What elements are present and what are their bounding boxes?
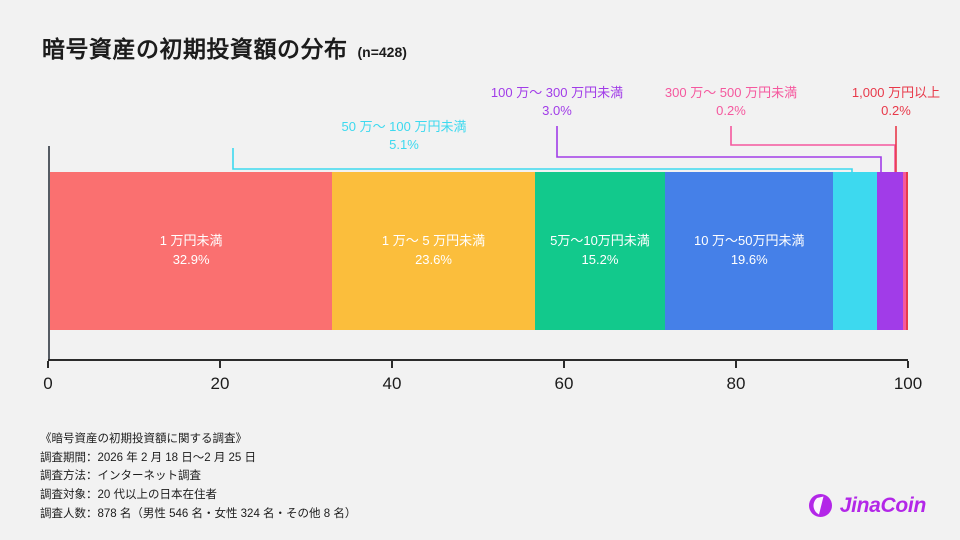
x-axis-tick-label: 80 xyxy=(727,374,746,394)
x-axis-tick-label: 100 xyxy=(894,374,922,394)
sample-size-label: (n=428) xyxy=(358,44,407,60)
x-axis-spine xyxy=(48,359,908,361)
callout-value: 3.0% xyxy=(491,102,623,120)
footnote-line-target: 調査対象：20 代以上の日本在住者 xyxy=(40,486,356,505)
x-tick-mark xyxy=(391,361,393,368)
segment-label: 1 万円未満 xyxy=(160,232,223,251)
callout-label-300man-500man: 300 万〜 500 万円未満 0.2% xyxy=(665,84,797,120)
callout-name: 50 万〜 100 万円未満 xyxy=(342,119,467,134)
stacked-bar-chart: 1 万円未満 32.9% 1 万〜 5 万円未満 23.6% 5万〜10万円未満… xyxy=(50,172,908,330)
segment-value: 32.9% xyxy=(173,251,210,270)
x-axis-tick-label: 40 xyxy=(383,374,402,394)
footnote-line-period: 調査期間：2026 年 2 月 18 日〜2 月 25 日 xyxy=(40,449,356,468)
x-axis-tick-label: 20 xyxy=(211,374,230,394)
callout-value: 0.2% xyxy=(852,102,940,120)
segment-value: 15.2% xyxy=(582,251,619,270)
callout-name: 300 万〜 500 万円未満 xyxy=(665,85,797,100)
footnote-line-method: 調査方法：インターネット調査 xyxy=(40,467,356,486)
x-tick-mark xyxy=(735,361,737,368)
segment-label: 5万〜10万円未満 xyxy=(550,232,650,251)
bar-segment-1man-miman[interactable]: 1 万円未満 32.9% xyxy=(50,172,332,330)
bar-segment-10man-50man[interactable]: 10 万〜50万円未満 19.6% xyxy=(665,172,833,330)
x-tick-mark xyxy=(907,361,909,368)
x-axis-tick-label: 60 xyxy=(555,374,574,394)
bar-segment-50man-100man[interactable] xyxy=(833,172,877,330)
x-tick-mark xyxy=(563,361,565,368)
brand-logo: JinaCoin xyxy=(808,493,926,518)
segment-value: 23.6% xyxy=(415,251,452,270)
chart-title: 暗号資産の初期投資額の分布 xyxy=(42,30,348,64)
page-title: 暗号資産の初期投資額の分布 (n=428) xyxy=(42,30,407,64)
x-tick-mark xyxy=(219,361,221,368)
callout-name: 100 万〜 300 万円未満 xyxy=(491,85,623,100)
x-tick-mark xyxy=(47,361,49,368)
segment-label: 10 万〜50万円未満 xyxy=(694,232,805,251)
footnote-line-count: 調査人数：878 名（男性 546 名・女性 324 名・その他 8 名） xyxy=(40,505,356,524)
callout-value: 0.2% xyxy=(665,102,797,120)
jinacoin-mark-icon xyxy=(808,493,833,518)
x-axis-tick-label: 0 xyxy=(43,374,52,394)
segment-value: 19.6% xyxy=(731,251,768,270)
bar-segment-5man-10man[interactable]: 5万〜10万円未満 15.2% xyxy=(535,172,665,330)
bar-segment-1000man-ijo[interactable] xyxy=(906,172,908,330)
segment-label: 1 万〜 5 万円未満 xyxy=(382,232,485,251)
callout-label-100man-300man: 100 万〜 300 万円未満 3.0% xyxy=(491,84,623,120)
brand-name: JinaCoin xyxy=(840,494,926,518)
callout-name: 1,000 万円以上 xyxy=(852,85,940,100)
survey-footnote: 《暗号資産の初期投資額に関する調査》 調査期間：2026 年 2 月 18 日〜… xyxy=(40,430,356,523)
footnote-line-title: 《暗号資産の初期投資額に関する調査》 xyxy=(40,430,356,449)
bar-segment-100man-300man[interactable] xyxy=(877,172,903,330)
chart-plot-area: 1 万円未満 32.9% 1 万〜 5 万円未満 23.6% 5万〜10万円未満… xyxy=(48,146,908,361)
bar-segment-1man-5man[interactable]: 1 万〜 5 万円未満 23.6% xyxy=(332,172,534,330)
callout-label-1000man-ijo: 1,000 万円以上 0.2% xyxy=(852,84,940,120)
